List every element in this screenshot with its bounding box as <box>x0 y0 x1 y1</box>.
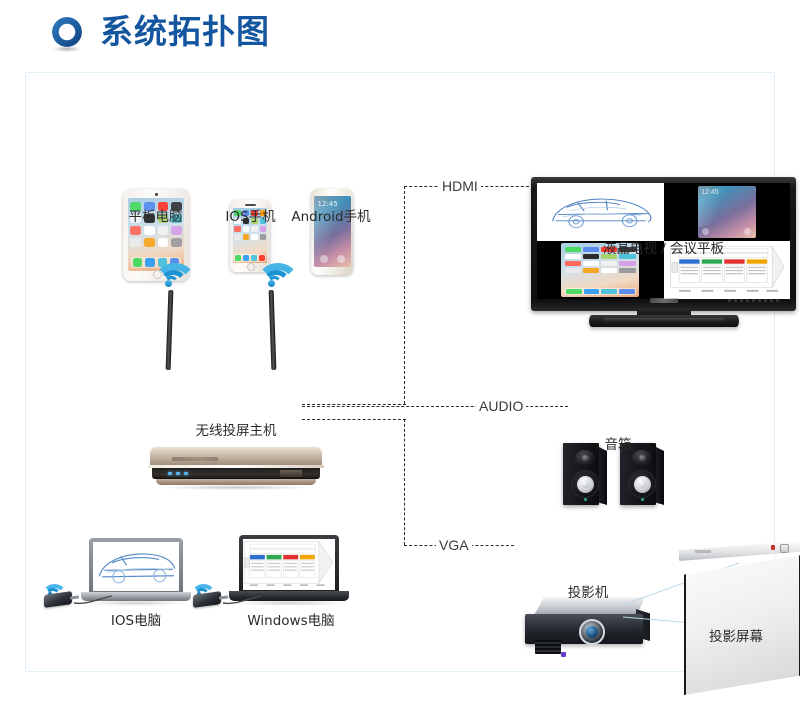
connection-label-vga: VGA <box>436 537 472 553</box>
projection-screen-icon <box>676 541 800 701</box>
tablet-label: 平板电脑 <box>98 209 213 226</box>
dongle-cable <box>223 593 263 609</box>
android-label: Android手机 <box>266 209 396 226</box>
page-header: 系统拓扑图 <box>0 0 800 72</box>
windows-laptop-label: Windows电脑 <box>216 613 366 630</box>
tv-brand-logo <box>650 298 678 303</box>
icon-shadow <box>53 46 81 52</box>
speakers-label: 音箱 <box>563 437 673 454</box>
tv-ir-strip <box>728 299 780 302</box>
wifi-dongle-icon <box>193 589 227 607</box>
connector-vga-from-hub <box>302 419 406 420</box>
smartphone-android-icon: 12:45 <box>311 189 353 275</box>
connector-hdmi-from-hub <box>302 404 406 405</box>
wifi-dongle-icon <box>44 589 78 607</box>
connector-vga-vertical <box>404 419 405 545</box>
ios-laptop-label: IOS电脑 <box>71 613 201 630</box>
wifi-icon <box>255 263 287 289</box>
tv-quadrant-car <box>537 183 664 241</box>
projection-screen-label: 投影屏幕 <box>666 629 800 646</box>
tv-label: 液晶电视 / 会议平板 <box>531 241 796 258</box>
hub-label: 无线投屏主机 <box>146 423 326 440</box>
dongle-cable <box>74 593 114 609</box>
connector-audio <box>302 406 568 407</box>
blue-ring-icon <box>52 17 82 47</box>
connection-label-hdmi: HDMI <box>439 178 481 194</box>
tv-quadrant-phone: 12:45 <box>664 183 791 241</box>
wifi-icon <box>152 263 184 289</box>
projector-label: 投影机 <box>523 585 653 602</box>
connector-hdmi-vertical <box>404 186 405 404</box>
projector-icon <box>523 597 653 655</box>
page-title: 系统拓扑图 <box>100 10 270 54</box>
topology-diagram-frame: 平板电脑 IOS手机 12:45 <box>25 72 775 672</box>
connection-label-audio: AUDIO <box>476 398 526 414</box>
